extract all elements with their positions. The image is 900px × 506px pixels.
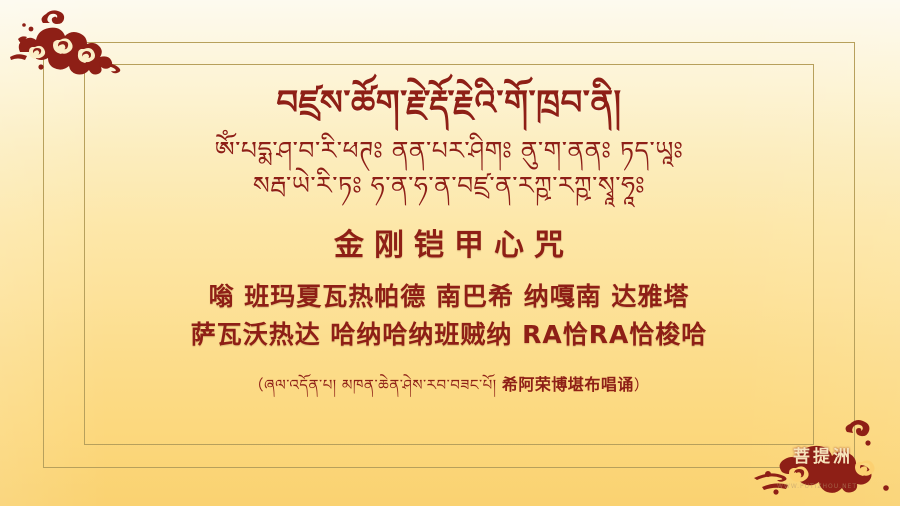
- chinese-mantra-line-1: 嗡 班玛夏瓦热帕德 南巴希 纳嘎南 达雅塔: [209, 278, 690, 316]
- chinese-mantra-line-2: 萨瓦沃热达 哈纳哈纳班贼纳 RA恰RA恰梭哈: [191, 316, 708, 354]
- credit-chinese: 希阿荣博堪布唱诵: [502, 375, 634, 394]
- credit-open-paren: （: [249, 376, 265, 394]
- tibetan-mantra-line-1: ཨོཾ་པདྨ་ཤ་བ་རི་ཕཊཿ ནན་པར་ཤིགཿ ནུ་ག་ནནཿ ཏ…: [215, 138, 684, 163]
- credit-close-paren: ）: [634, 376, 650, 394]
- card-content: བཛྲས་ཚོག་རྗེ་རྡོ་རྗེའི་གོ་ཁྲབ་ནི། ཨོཾ་པད…: [84, 64, 814, 445]
- credit-tibetan: ཞལ་འདོན་པ། མཁན་ཆེན་ཤེས་རབ་བཟང་པོ།: [264, 376, 496, 394]
- tibetan-title: བཛྲས་ཚོག་རྗེ་རྡོ་རྗེའི་གོ་ཁྲབ་ནི།: [276, 86, 621, 120]
- watermark-subtext: WWW.PUTIZHOU.NET: [762, 483, 872, 490]
- tibetan-mantra-line-2: སརྦ་ཡེ་རི་ཏཿ ཧ་ན་ཧ་ན་བཛྲ་ན་རཀྵ་རཀྵ་སྭཱ་ཧ…: [253, 173, 645, 198]
- mantra-card: 菩提洲 WWW.PUTIZHOU.NET བཛྲས་ཚོག་རྗེ་རྡོ་རྗ…: [0, 0, 900, 506]
- chinese-title: 金刚铠甲心咒: [324, 220, 574, 264]
- credit-line: （ཞལ་འདོན་པ། མཁན་ཆེན་ཤེས་རབ་བཟང་པོ། 希阿荣博堪…: [249, 369, 650, 411]
